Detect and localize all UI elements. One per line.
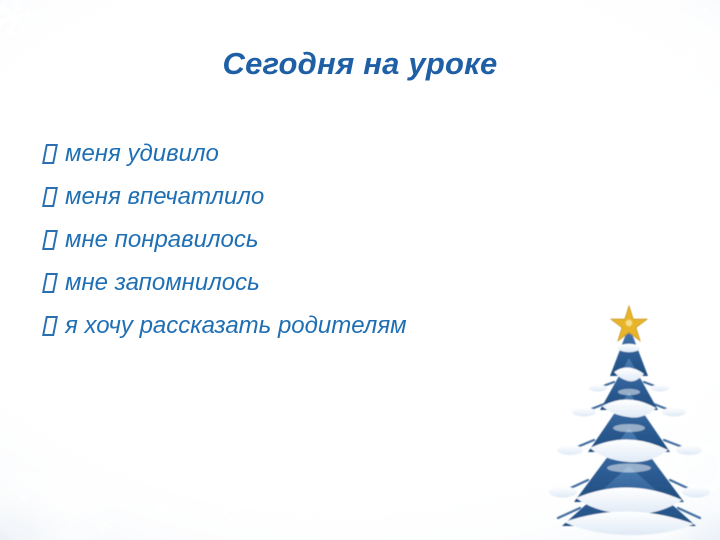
missing-glyph-bullet-icon xyxy=(42,273,58,293)
missing-glyph-bullet-icon xyxy=(42,187,58,207)
list-item: меня удивило xyxy=(44,132,407,175)
list-item: меня впечатлило xyxy=(44,175,407,218)
list-item-label: меня удивило xyxy=(65,142,219,166)
page-title: Сегодня на уроке xyxy=(0,46,720,82)
list-item-label: мне понравилось xyxy=(65,228,259,252)
missing-glyph-bullet-icon xyxy=(42,316,58,336)
list-item: мне понравилось xyxy=(44,218,407,261)
list-item: мне запомнилось xyxy=(44,261,407,304)
winter-slide: Сегодня на уроке меня удивило меня впеча… xyxy=(0,0,720,540)
missing-glyph-bullet-icon xyxy=(42,230,58,250)
bullet-list: меня удивило меня впечатлило мне понрави… xyxy=(44,132,407,347)
list-item: я хочу рассказать родителям xyxy=(44,304,407,347)
list-item-label: я хочу рассказать родителям xyxy=(65,314,407,338)
list-item-label: мне запомнилось xyxy=(65,271,260,295)
slide-content: Сегодня на уроке меня удивило меня впеча… xyxy=(0,0,720,540)
missing-glyph-bullet-icon xyxy=(42,144,58,164)
list-item-label: меня впечатлило xyxy=(65,185,264,209)
